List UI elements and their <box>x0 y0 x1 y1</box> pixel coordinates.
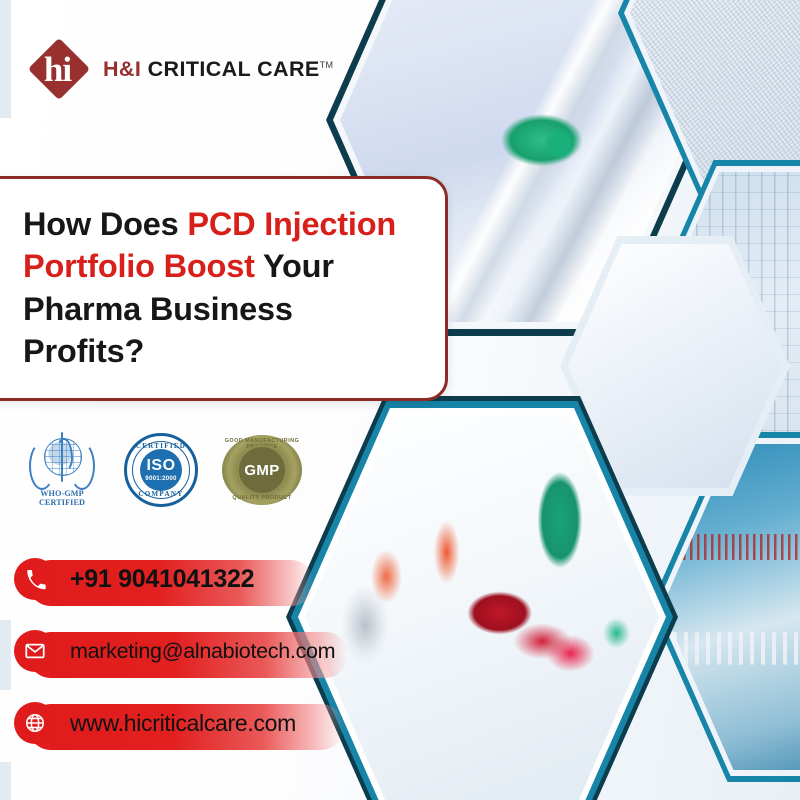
phone-icon <box>14 558 56 600</box>
gmp-label: GMP <box>237 445 287 495</box>
certification-badges: WHO-GMP CERTIFIED CERTIFIED ISO 9001:200… <box>22 432 304 507</box>
gmp-badge: GOOD MANUFACTURING PRACTICE GMP QUALITY … <box>220 433 304 507</box>
iso-standard: 9001:2000 <box>145 476 176 482</box>
email-address: marketing@alnabiotech.com <box>70 639 335 664</box>
logo-monogram: hi <box>28 38 90 100</box>
headline-line-4: Profits? <box>23 330 419 372</box>
logo-diamond-icon: hi <box>28 38 90 100</box>
who-emblem-icon <box>27 432 97 488</box>
iso-badge: CERTIFIED ISO 9001:2000 COMPANY <box>124 433 198 507</box>
iso-bottom-text: COMPANY <box>127 490 195 498</box>
poster-canvas: hi H&I CRITICAL CARETM How Does PCD Inje… <box>0 0 800 800</box>
brand-wordmark: H&I CRITICAL CARETM <box>103 57 333 82</box>
brand-logo[interactable]: hi H&I CRITICAL CARETM <box>28 38 333 100</box>
headline-line-2: Portfolio Boost Your <box>23 245 419 287</box>
headline-accent-2: Portfolio Boost <box>23 248 255 284</box>
contact-website[interactable]: www.hicriticalcare.com <box>14 702 296 744</box>
phone-number: +91 9041041322 <box>70 565 254 594</box>
headline-accent-1: PCD Injection <box>187 206 396 242</box>
headline-line-1: How Does PCD Injection <box>23 203 419 245</box>
trademark-mark: TM <box>320 59 334 69</box>
email-icon <box>14 630 56 672</box>
contact-email[interactable]: marketing@alnabiotech.com <box>14 630 335 672</box>
who-gmp-caption: WHO-GMP CERTIFIED <box>22 489 102 507</box>
contact-phone[interactable]: +91 9041041322 <box>14 558 254 600</box>
headline-plain-2: Your <box>255 248 334 284</box>
iso-label: ISO <box>146 458 175 474</box>
who-gmp-badge: WHO-GMP CERTIFIED <box>22 432 102 507</box>
iso-core: ISO 9001:2000 <box>140 449 182 491</box>
headline-line-3: Pharma Business <box>23 288 419 330</box>
globe-icon <box>14 702 56 744</box>
brand-name-primary: H&I <box>103 57 141 81</box>
gmp-bottom-text: QUALITY PRODUCT <box>220 495 304 501</box>
brand-name-secondary: CRITICAL CARE <box>148 57 320 81</box>
website-url: www.hicriticalcare.com <box>70 710 296 737</box>
headline-card: How Does PCD Injection Portfolio Boost Y… <box>0 176 448 401</box>
headline-plain-1: How Does <box>23 206 187 242</box>
